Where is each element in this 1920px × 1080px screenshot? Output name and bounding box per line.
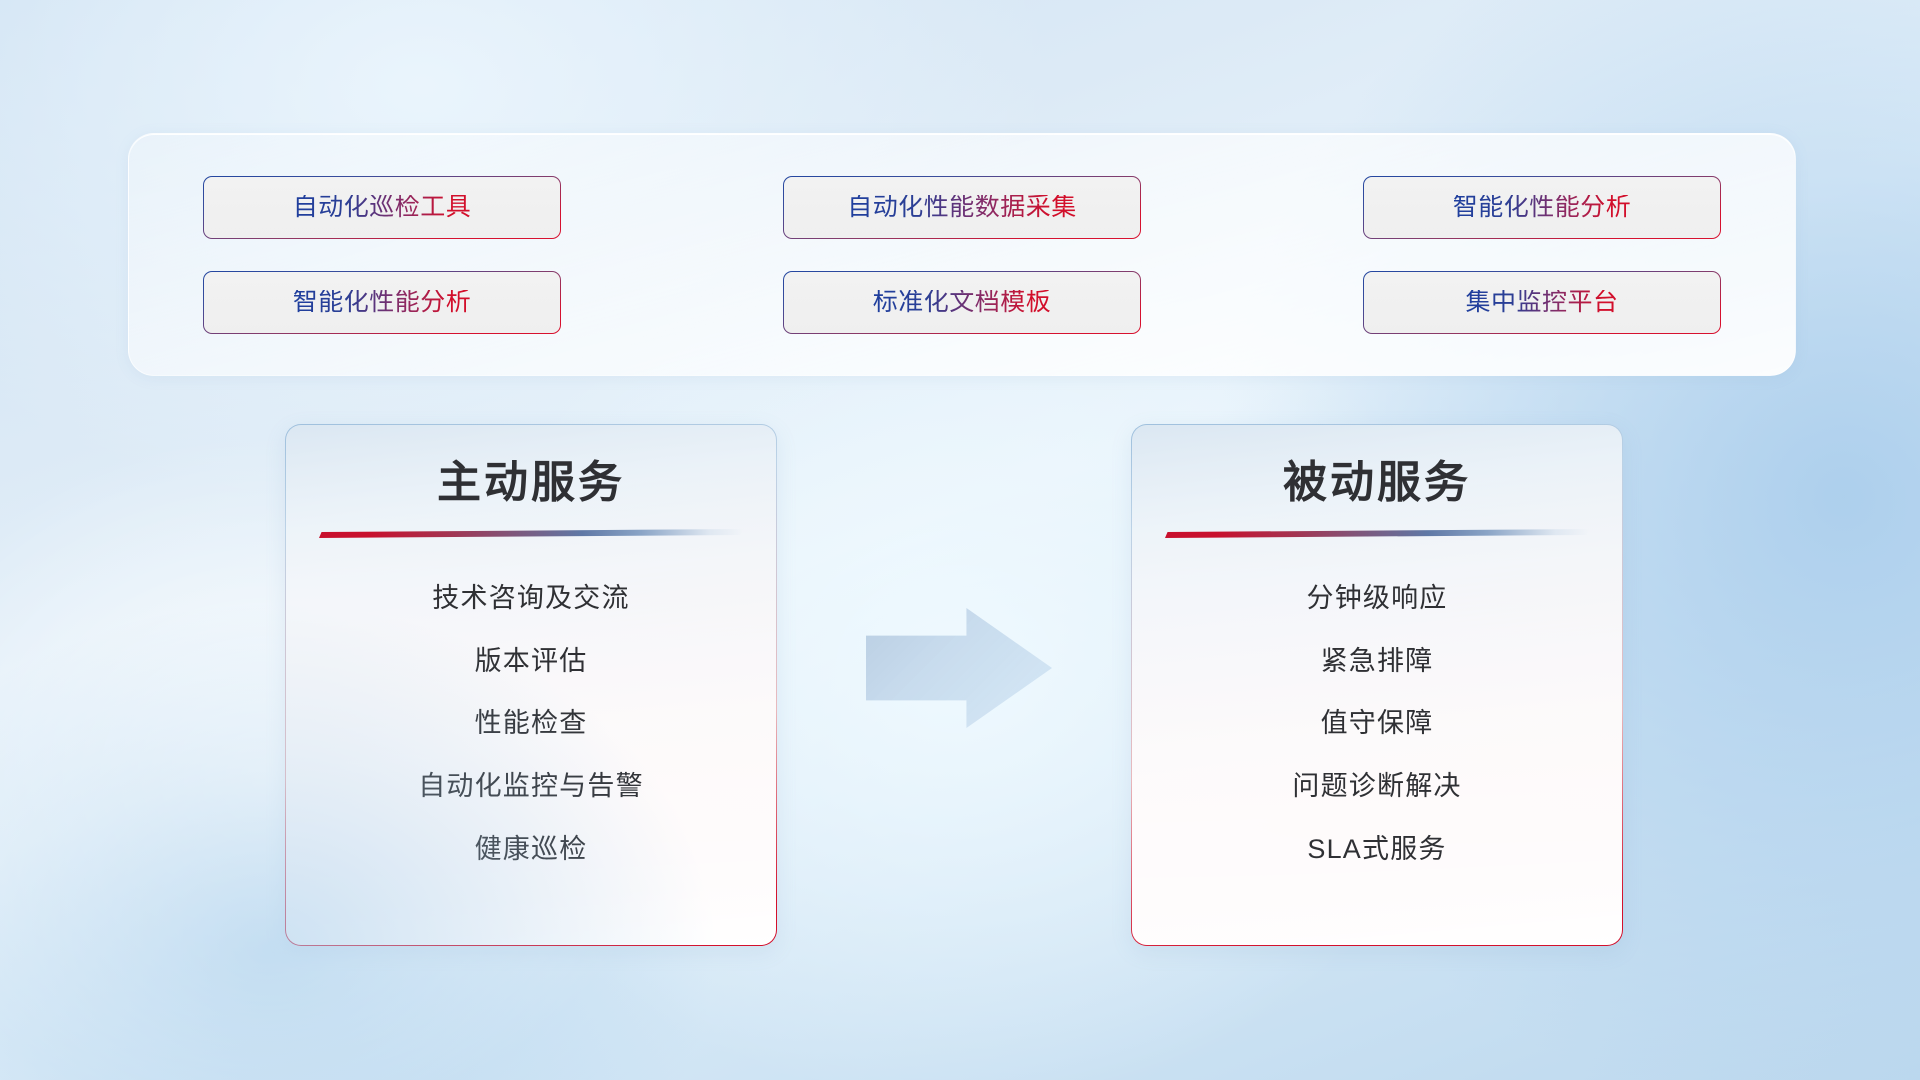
capability-row-1: 自动化巡检工具 自动化性能数据采集 智能化性能分析 xyxy=(203,176,1721,239)
capability-pill-standard-doc-template[interactable]: 标准化文档模板 xyxy=(783,271,1141,334)
service-card-title: 主动服务 xyxy=(437,461,625,505)
capability-pill-auto-perf-data-collection[interactable]: 自动化性能数据采集 xyxy=(783,176,1141,239)
list-item: 性能检查 xyxy=(475,709,588,739)
capability-pill-central-monitoring-platform[interactable]: 集中监控平台 xyxy=(1363,271,1721,334)
capability-pill-intelligent-perf-analysis-2[interactable]: 智能化性能分析 xyxy=(203,271,561,334)
capability-panel: 自动化巡检工具 自动化性能数据采集 智能化性能分析 智能化性能分析 标准化文档模… xyxy=(128,133,1796,376)
list-item: 紧急排障 xyxy=(1321,647,1434,677)
service-card-proactive[interactable]: 主动服务 技术咨询及交流 版本评估 性能检查 自动化监控与告警 健康巡检 xyxy=(285,424,777,946)
capability-pill-label: 自动化性能数据采集 xyxy=(847,195,1077,220)
card-divider xyxy=(319,529,743,538)
list-item: 版本评估 xyxy=(475,647,588,677)
list-item: SLA式服务 xyxy=(1307,835,1446,865)
list-item: 分钟级响应 xyxy=(1307,584,1448,614)
capability-pill-label: 自动化巡检工具 xyxy=(293,195,472,220)
list-item: 自动化监控与告警 xyxy=(418,772,644,802)
slide-canvas: 自动化巡检工具 自动化性能数据采集 智能化性能分析 智能化性能分析 标准化文档模… xyxy=(0,0,1920,1080)
capability-row-2: 智能化性能分析 标准化文档模板 集中监控平台 xyxy=(203,271,1721,334)
capability-pill-label: 智能化性能分析 xyxy=(1453,195,1632,220)
list-item: 技术咨询及交流 xyxy=(432,584,629,614)
card-divider xyxy=(1165,529,1589,538)
capability-pill-label: 智能化性能分析 xyxy=(293,290,472,315)
capability-pill-label: 集中监控平台 xyxy=(1465,290,1618,315)
capability-pill-intelligent-perf-analysis[interactable]: 智能化性能分析 xyxy=(1363,176,1721,239)
service-card-title: 被动服务 xyxy=(1283,461,1471,505)
list-item: 问题诊断解决 xyxy=(1292,772,1461,802)
service-card-reactive[interactable]: 被动服务 分钟级响应 紧急排障 值守保障 问题诊断解决 SLA式服务 xyxy=(1131,424,1623,946)
right-arrow-icon xyxy=(866,608,1052,728)
service-item-list: 技术咨询及交流 版本评估 性能检查 自动化监控与告警 健康巡检 xyxy=(286,584,776,864)
list-item: 值守保障 xyxy=(1321,709,1434,739)
service-item-list: 分钟级响应 紧急排障 值守保障 问题诊断解决 SLA式服务 xyxy=(1132,584,1622,864)
capability-pill-auto-inspection-tool[interactable]: 自动化巡检工具 xyxy=(203,176,561,239)
capability-pill-label: 标准化文档模板 xyxy=(873,290,1052,315)
list-item: 健康巡检 xyxy=(475,835,588,865)
